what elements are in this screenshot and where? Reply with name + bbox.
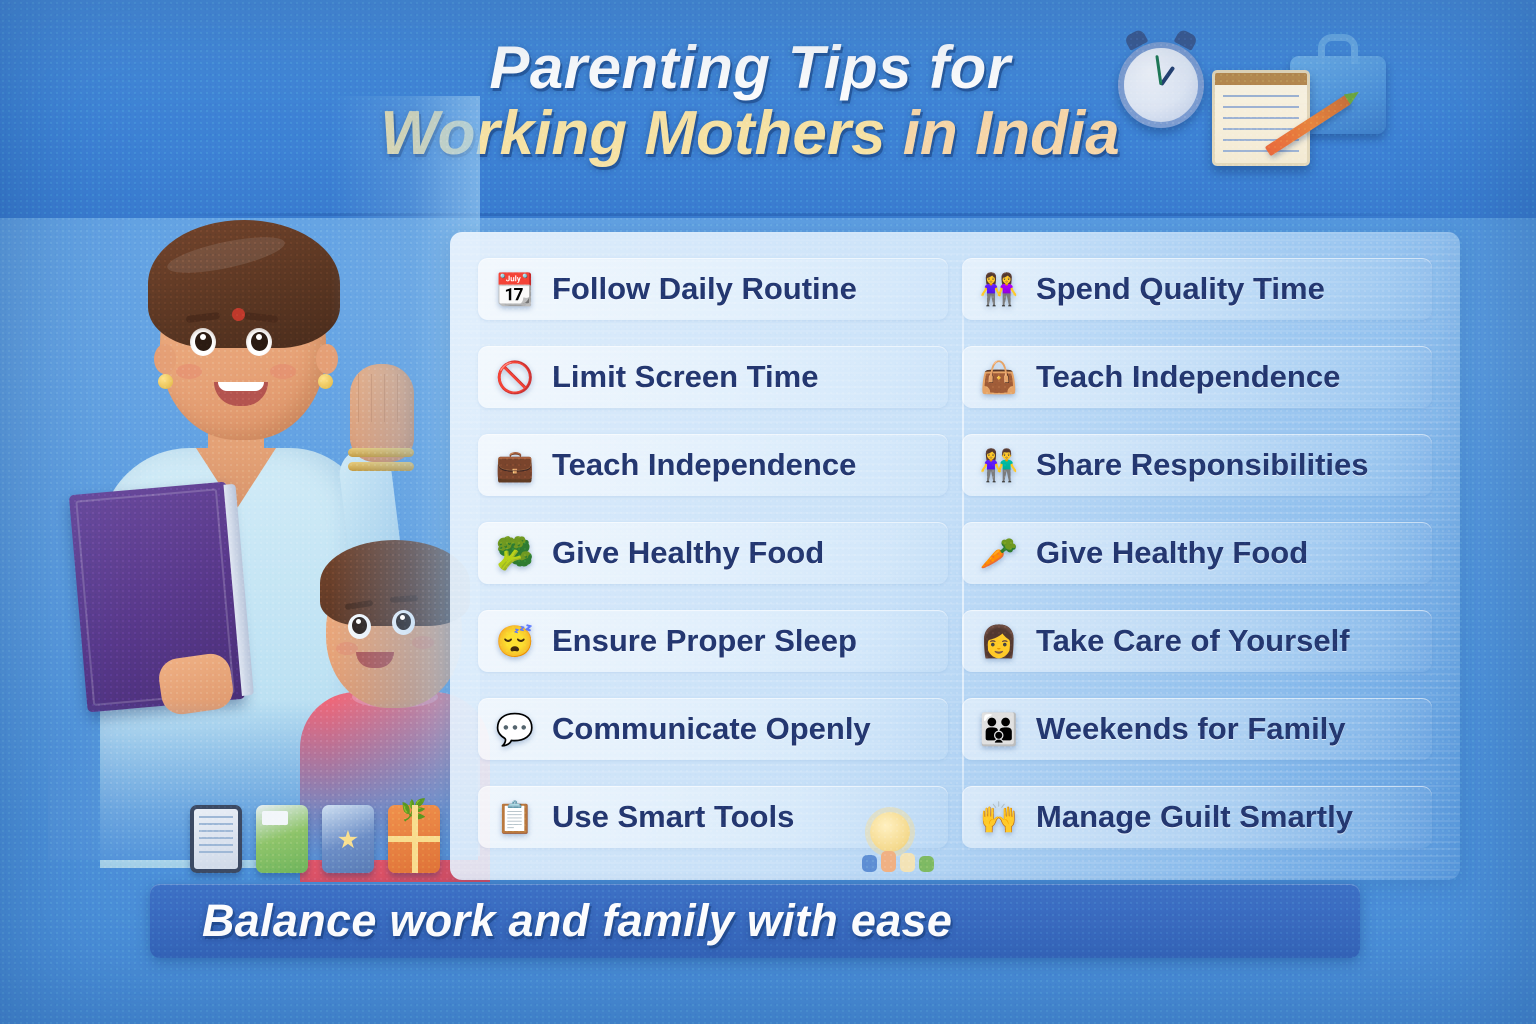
briefcase-icon: 💼 <box>492 442 538 488</box>
no-screen-icon: 🚫 <box>492 354 538 400</box>
cream-object-icon <box>900 853 915 872</box>
tip-item[interactable]: 👜 Teach Independence <box>962 346 1432 408</box>
two-people-icon: 👭 <box>976 266 1022 312</box>
woman-raising-hands-icon: 🙌 <box>976 794 1022 840</box>
tip-item[interactable]: 😴 Ensure Proper Sleep <box>478 610 948 672</box>
tip-label: Follow Daily Routine <box>552 271 857 307</box>
tip-item[interactable]: 🥕 Give Healthy Food <box>962 522 1432 584</box>
tip-label: Share Responsibilities <box>1036 447 1369 483</box>
title-suffix: in India <box>885 99 1119 168</box>
self-care-icon: 👩 <box>976 618 1022 664</box>
handbag-icon: 👜 <box>976 354 1022 400</box>
mother-eye-right <box>246 328 272 356</box>
child-cheek-right <box>412 636 434 649</box>
photo-card-icon <box>256 805 308 873</box>
mother-eye-left <box>190 328 216 356</box>
speech-bubbles-icon: 💬 <box>492 706 538 752</box>
alarm-clock-icon <box>1118 42 1204 128</box>
tip-label: Manage Guilt Smartly <box>1036 799 1353 835</box>
tip-label: Weekends for Family <box>1036 711 1346 747</box>
leaf-glyph: 🌿 <box>401 799 427 823</box>
tip-label: Teach Independence <box>1036 359 1340 395</box>
sun-icon <box>870 812 910 852</box>
tip-item[interactable]: 👭 Spend Quality Time <box>962 258 1432 320</box>
tip-label: Limit Screen Time <box>552 359 818 395</box>
mother-ear-right <box>316 344 338 374</box>
tip-label: Take Care of Yourself <box>1036 623 1350 659</box>
sleeping-face-icon: 😴 <box>492 618 538 664</box>
peach-object-icon <box>881 851 896 872</box>
tip-item[interactable]: 👪 Weekends for Family <box>962 698 1432 760</box>
tip-item[interactable]: 👩 Take Care of Yourself <box>962 610 1432 672</box>
mother-earring-left <box>158 374 173 389</box>
mother-earring-right <box>318 374 333 389</box>
tip-label: Teach Independence <box>552 447 856 483</box>
mother-ear-left <box>154 344 176 374</box>
tip-label: Give Healthy Food <box>1036 535 1308 571</box>
mother-cheek-left <box>176 364 202 379</box>
tip-item[interactable]: 📆 Follow Daily Routine <box>478 258 948 320</box>
sun-objects-decoration <box>858 806 928 872</box>
tip-label: Give Healthy Food <box>552 535 824 571</box>
tip-label: Communicate Openly <box>552 711 871 747</box>
vegetables-icon: 🥕 <box>976 530 1022 576</box>
mother-bangle-2 <box>348 462 414 471</box>
small-objects-group <box>862 851 934 872</box>
star-book-icon: ★ <box>322 805 374 873</box>
tips-right-column: 👭 Spend Quality Time 👜 Teach Independenc… <box>962 258 1432 874</box>
child-eye-left <box>348 614 371 639</box>
mother-hair-front <box>148 220 340 348</box>
bottom-decoration-strip: ★ 🌿 <box>190 798 470 880</box>
header-decoration <box>1100 24 1430 174</box>
phone-icon <box>190 805 242 873</box>
tip-item[interactable]: 💼 Teach Independence <box>478 434 948 496</box>
tip-item[interactable]: 👫 Share Responsibilities <box>962 434 1432 496</box>
mother-and-daughter-illustration <box>48 96 478 856</box>
tip-item[interactable]: 🙌 Manage Guilt Smartly <box>962 786 1432 848</box>
footer-tagline: Balance work and family with ease <box>150 895 952 947</box>
notepad-lines <box>1223 95 1299 161</box>
gift-plant-icon: 🌿 <box>388 805 440 873</box>
fruits-icon: 🥦 <box>492 530 538 576</box>
infographic-canvas: Parenting Tips for Working Mothers in In… <box>0 0 1536 1024</box>
mother-bindi <box>232 308 245 321</box>
couple-icon: 👫 <box>976 442 1022 488</box>
footer-band: Balance work and family with ease <box>150 884 1360 958</box>
blue-object-icon <box>862 855 877 872</box>
mother-bangle <box>348 448 414 457</box>
tips-left-column: 📆 Follow Daily Routine 🚫 Limit Screen Ti… <box>478 258 948 874</box>
tip-label: Use Smart Tools <box>552 799 794 835</box>
tip-item[interactable]: 🚫 Limit Screen Time <box>478 346 948 408</box>
clock-minute-hand <box>1155 55 1162 85</box>
tip-label: Ensure Proper Sleep <box>552 623 857 659</box>
child-cheek-left <box>336 642 358 655</box>
clipboard-icon: 📋 <box>492 794 538 840</box>
notepad-icon <box>1212 70 1310 166</box>
mother-cheek-right <box>270 364 296 379</box>
tip-item[interactable]: 💬 Communicate Openly <box>478 698 948 760</box>
calendar-icon: 📆 <box>492 266 538 312</box>
star-glyph: ★ <box>337 825 359 855</box>
family-icon: 👪 <box>976 706 1022 752</box>
tip-label: Spend Quality Time <box>1036 271 1325 307</box>
tip-item[interactable]: 🥦 Give Healthy Food <box>478 522 948 584</box>
title-line-1: Parenting Tips for <box>300 36 1200 99</box>
green-object-icon <box>919 856 934 872</box>
child-eye-right <box>392 610 415 635</box>
